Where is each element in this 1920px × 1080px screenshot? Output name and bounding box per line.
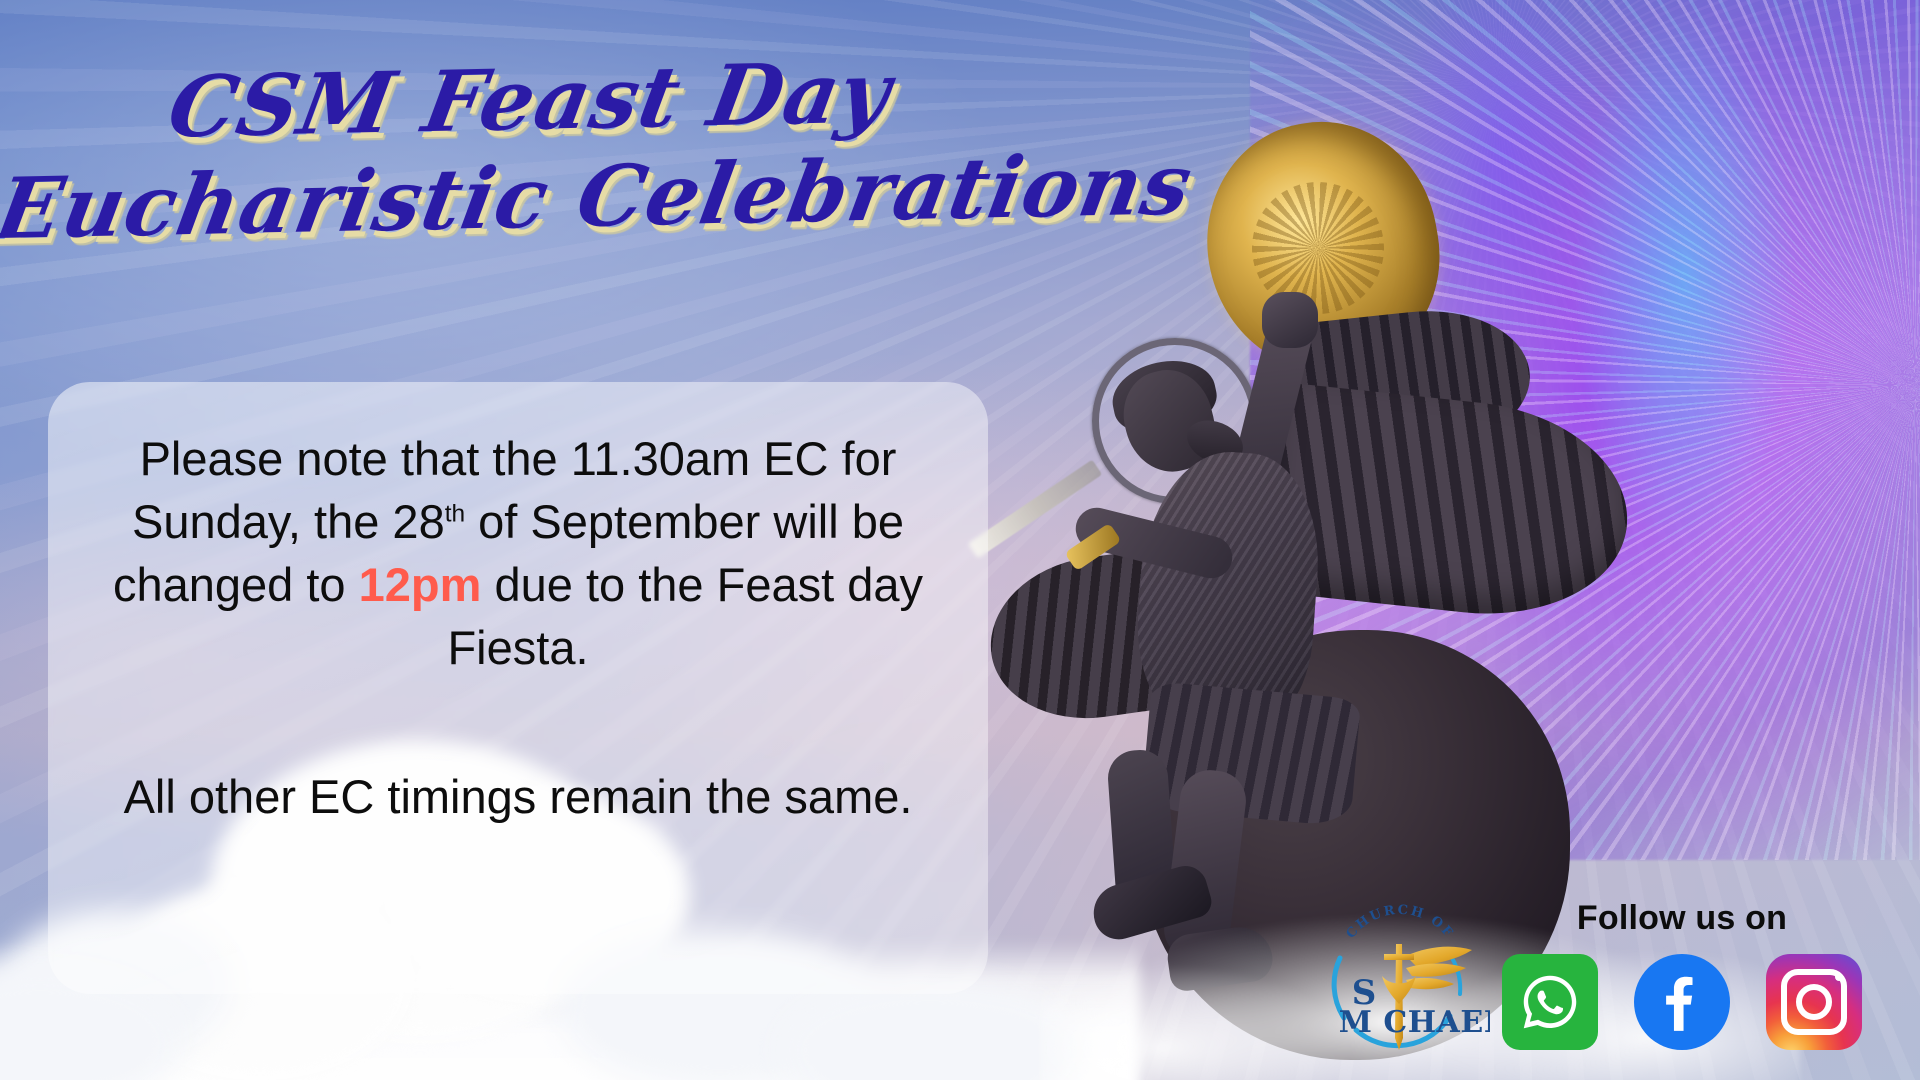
instagram-square: [1781, 969, 1847, 1035]
announcement-paragraph-2: All other EC timings remain the same.: [88, 766, 948, 829]
social-icons-row: [1502, 954, 1862, 1050]
ordinal-suffix: th: [445, 500, 465, 527]
church-logo: CHURCH OF S M CHAEL: [1310, 898, 1490, 1058]
instagram-dot: [1835, 973, 1843, 981]
logo-wing-1: [1406, 947, 1472, 966]
facebook-glyph: [1649, 969, 1715, 1035]
whatsapp-glyph: [1515, 967, 1585, 1037]
instagram-lens: [1796, 984, 1832, 1020]
instagram-icon[interactable]: [1766, 954, 1862, 1050]
poster-title: CSM Feast Day Eucharistic Celebrations: [0, 58, 1060, 240]
poster-canvas: CSM Feast Day Eucharistic Celebrations P…: [0, 0, 1920, 1080]
announcement-text: Please note that the 11.30am EC for Sund…: [48, 382, 988, 994]
logo-word-michael: M CHAEL: [1339, 1005, 1490, 1040]
announcement-paragraph-1: Please note that the 11.30am EC for Sund…: [88, 428, 948, 680]
logo-arc-right: [1452, 958, 1460, 994]
highlighted-time: 12pm: [359, 558, 482, 611]
follow-us-label: Follow us on: [1502, 899, 1862, 938]
title-line-1: CSM Feast Day: [0, 47, 1069, 153]
facebook-icon[interactable]: [1634, 954, 1730, 1050]
logo-arc-text: CHURCH OF: [1344, 903, 1457, 942]
announcement-part-3: due to the Feast day Fiesta.: [447, 558, 923, 674]
church-logo-svg: CHURCH OF S M CHAEL: [1310, 898, 1490, 1058]
logo-cross-bar: [1384, 954, 1414, 960]
statue-skirt: [1141, 681, 1361, 827]
whatsapp-icon[interactable]: [1502, 954, 1598, 1050]
announcement-panel: Please note that the 11.30am EC for Sund…: [48, 382, 988, 994]
title-line-2: Eucharistic Celebrations: [0, 145, 1069, 251]
statue-fist: [1262, 292, 1318, 348]
follow-us-section: Follow us on: [1502, 899, 1862, 1050]
